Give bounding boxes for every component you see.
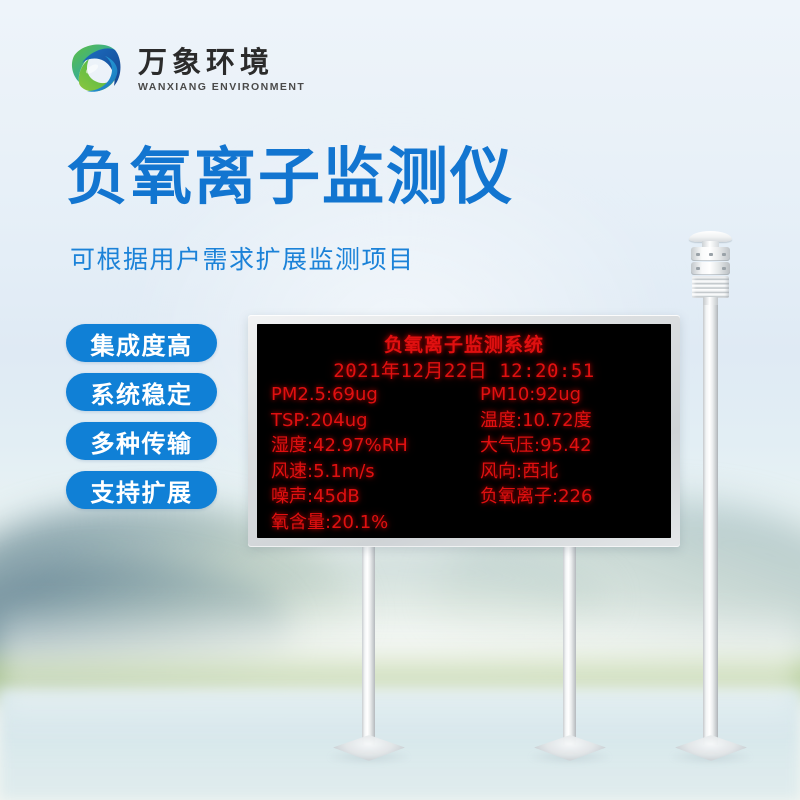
led-readout-row: PM2.5:69ug xyxy=(271,382,464,408)
feature-badge: 支持扩展 xyxy=(66,471,217,509)
sensor-bolt xyxy=(696,267,700,270)
brand-logo: 万象环境 WANXIANG ENVIRONMENT xyxy=(62,36,305,102)
feature-badge: 集成度高 xyxy=(66,324,217,362)
brand-name-en: WANXIANG ENVIRONMENT xyxy=(138,81,305,93)
feature-badge-label: 支持扩展 xyxy=(91,473,193,508)
sensor-bolt xyxy=(722,267,726,270)
page-subtitle: 可根据用户需求扩展监测项目 xyxy=(70,240,415,276)
led-readout-row: 湿度:42.97%RH xyxy=(271,433,464,459)
led-readout-row: 氧含量:20.1% xyxy=(271,510,464,536)
led-readout-row: 噪声:45dB xyxy=(271,484,464,510)
feature-badge: 多种传输 xyxy=(66,422,217,460)
display-support-leg-left xyxy=(362,545,375,745)
product-banner: 万象环境 WANXIANG ENVIRONMENT 负氧离子监测仪 可根据用户需… xyxy=(0,0,800,800)
background-haze xyxy=(0,600,800,720)
feature-badge-label: 多种传输 xyxy=(91,424,193,459)
led-readout-row: TSP:204ug xyxy=(271,408,464,434)
led-panel-title: 负氧离子监测系统 xyxy=(257,330,671,357)
feature-badge-label: 系统稳定 xyxy=(91,375,193,410)
page-title: 负氧离子监测仪 xyxy=(66,146,514,208)
brand-logo-text: 万象环境 WANXIANG ENVIRONMENT xyxy=(138,45,305,93)
sensor-bolt xyxy=(709,253,713,256)
led-readout-column-right: PM10:92ug 温度:10.72度 大气压:95.42 风向:西北 负氧离子… xyxy=(464,382,671,535)
sensor-bolt xyxy=(722,253,726,256)
sensor-radiation-shield xyxy=(692,276,729,298)
display-support-leg-right xyxy=(563,545,576,745)
feature-badge: 系统稳定 xyxy=(66,373,217,411)
led-panel-datetime: 2021年12月22日 12:20:51 xyxy=(257,356,671,383)
led-readout-column-left: PM2.5:69ug TSP:204ug 湿度:42.97%RH 风速:5.1m… xyxy=(257,382,464,535)
led-readout-row: 风速:5.1m/s xyxy=(271,459,464,485)
feature-badge-label: 集成度高 xyxy=(91,326,193,361)
sensor-stem xyxy=(703,297,718,305)
led-readout-row: 温度:10.72度 xyxy=(480,408,671,434)
ultrasonic-weather-sensor-icon xyxy=(681,231,740,303)
led-readout-row: 大气压:95.42 xyxy=(480,433,671,459)
led-readout-columns: PM2.5:69ug TSP:204ug 湿度:42.97%RH 风速:5.1m… xyxy=(257,382,671,535)
sensor-bolt xyxy=(696,253,700,256)
brand-name-cn: 万象环境 xyxy=(138,47,305,77)
led-readout-row: 风向:西北 xyxy=(480,459,671,485)
led-panel: 负氧离子监测系统 2021年12月22日 12:20:51 PM2.5:69ug… xyxy=(257,324,671,538)
globe-swirl-logo-icon xyxy=(62,36,128,102)
led-display-board: 负氧离子监测系统 2021年12月22日 12:20:51 PM2.5:69ug… xyxy=(248,315,680,547)
led-readout-row: 负氧离子:226 xyxy=(480,484,671,510)
mounting-mast-icon xyxy=(703,295,718,745)
led-readout-row: PM10:92ug xyxy=(480,382,671,408)
feature-badge-list: 集成度高 系统稳定 多种传输 支持扩展 xyxy=(66,324,217,509)
